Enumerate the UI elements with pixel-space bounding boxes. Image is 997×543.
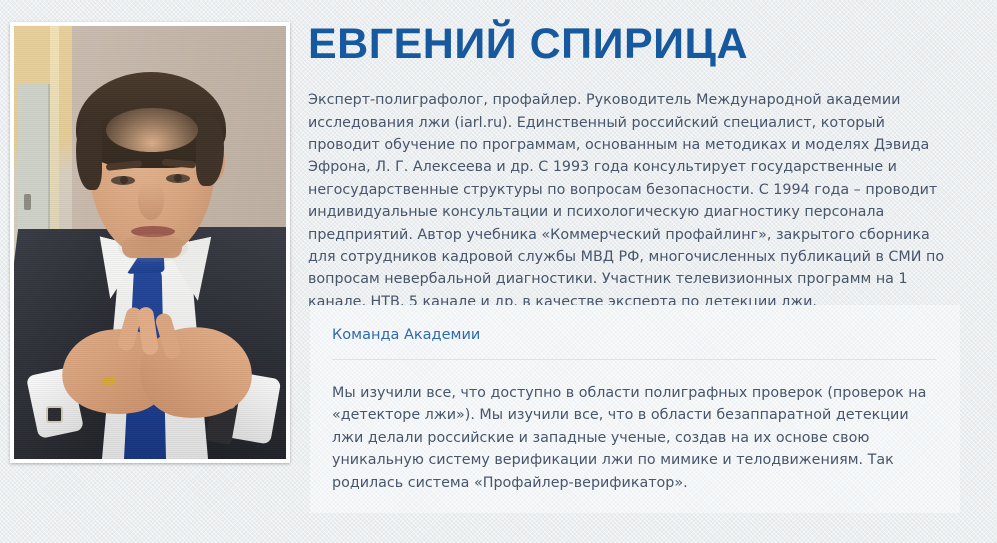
profile-photo-frame (10, 22, 290, 463)
page-title: ЕВГЕНИЙ СПИРИЦА (308, 0, 968, 67)
profile-page: ЕВГЕНИЙ СПИРИЦА Эксперт-полиграфолог, пр… (0, 0, 997, 543)
profile-photo (14, 26, 286, 459)
photo-wall-edge (50, 26, 59, 261)
team-quote-card: Команда Академии Мы изучили все, что дос… (310, 305, 960, 513)
photo-pupil-left (120, 176, 128, 184)
photo-chin (118, 234, 188, 262)
photo-hair-left (76, 118, 102, 190)
photo-forehead (106, 108, 198, 152)
quote-card-heading: Команда Академии (332, 327, 936, 343)
photo-door-handle (24, 194, 31, 210)
photo-nose (138, 182, 164, 220)
photo-pupil-right (174, 174, 182, 182)
profile-bio-paragraph: Эксперт-полиграфолог, профайлер. Руковод… (308, 67, 956, 313)
quote-card-text: Мы изучили все, что доступно в области п… (332, 360, 940, 494)
photo-door-panel (18, 84, 51, 244)
photo-cufflink (46, 406, 63, 423)
profile-content: ЕВГЕНИЙ СПИРИЦА Эксперт-полиграфолог, пр… (308, 0, 968, 313)
